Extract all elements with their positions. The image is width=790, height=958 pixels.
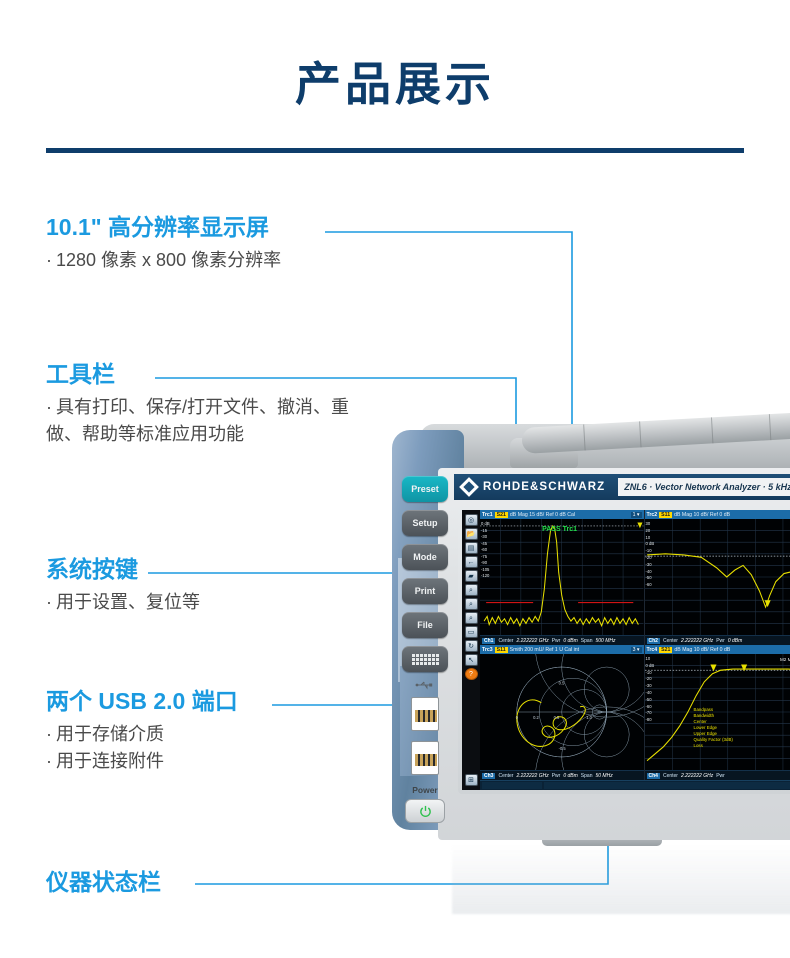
center-value: 2.222222 GHz <box>516 773 548 779</box>
svg-text:-0.5: -0.5 <box>559 746 567 751</box>
svg-text:0: 0 <box>516 715 519 720</box>
system-keys-column: Preset Setup Mode Print File <box>400 476 452 823</box>
usb-port-1[interactable] <box>411 697 439 731</box>
page-title: 产品展示 <box>0 58 790 111</box>
save-file-icon[interactable]: ▤ <box>465 542 478 554</box>
svg-text:1.0: 1.0 <box>586 715 592 720</box>
model-designation: ZNL6 · Vector Network Analyzer · 5 kHz -… <box>618 478 790 496</box>
smith-chart: 0.5 0 0.2 0.5 1.0 -0.5 <box>480 654 644 770</box>
rohde-schwarz-logo-icon <box>459 477 479 497</box>
trace-parameter: S21 <box>659 647 672 653</box>
preset-button[interactable]: Preset <box>402 476 448 502</box>
plot-trc3-smith[interactable]: 0.5 0 0.2 0.5 1.0 -0.5 <box>480 654 644 770</box>
bullet-dot: · <box>46 589 52 616</box>
center-value: 2.222222 GHz <box>681 773 713 779</box>
callout-system-keys-bullets: ·用于设置、复位等 <box>46 589 200 616</box>
keyboard-icon <box>412 654 439 665</box>
diagram-trc3[interactable]: Trc3 S11 Smith 200 mU/ Ref 1 U Cal int 3… <box>480 645 645 780</box>
screenshot-icon[interactable]: ◎ <box>465 514 478 526</box>
instrument-reflection <box>452 844 790 914</box>
callout-display-bullets: ·1280 像素 x 800 像素分辨率 <box>46 247 281 274</box>
callout-usb-heading: 两个 USB 2.0 端口 <box>46 689 238 714</box>
channel-id: Ch3 <box>482 773 495 779</box>
pointer-help-icon[interactable]: ↖ <box>465 654 478 666</box>
plot-trc2[interactable]: M1 2 3020100 dB-10-20-30-40-50-60 <box>645 519 790 635</box>
bullet-item: ·用于存储介质 <box>46 721 238 748</box>
trace-settings: Smith 200 mU/ Ref 1 U Cal int <box>510 647 579 653</box>
zoom-select-icon[interactable]: ⌕ <box>465 598 478 610</box>
bullet-item: ·用于连接附件 <box>46 748 238 775</box>
channel-bar-ch4[interactable]: Ch4 Center 2.222222 GHz Pwr <box>645 770 790 780</box>
trace-selector[interactable]: 1 ▾ <box>631 512 642 518</box>
usb-trident-icon <box>415 680 435 690</box>
setup-button[interactable]: Setup <box>402 510 448 536</box>
trc4-y-axis: 100 dB-10-20-30-40-50-60-70-80 <box>646 656 655 724</box>
instrument-photo: ROHDE&SCHWARZ ZNL6 · Vector Network Anal… <box>392 424 790 864</box>
plot-trc1[interactable]: PASS Trc1 0 dB-15-30-45-60-75-90-105-120 <box>480 519 644 635</box>
magnifier-icon[interactable]: ⌕ <box>465 612 478 624</box>
svg-text:0.5: 0.5 <box>554 715 560 720</box>
trace-settings: dB Mag 15 dB/ Ref 0 dB Cal <box>510 512 575 518</box>
instrument-status-bar[interactable] <box>480 780 790 790</box>
plot-trc2-graph <box>645 519 790 635</box>
trace-name: Trc4 <box>647 647 658 653</box>
file-button[interactable]: File <box>402 612 448 638</box>
trace-settings: dB Mag 10 dB/ Ref 0 dB <box>674 647 730 653</box>
bullet-text: 具有打印、保存/打开文件、撤消、重做、帮助等标准应用功能 <box>46 397 349 444</box>
undo-icon[interactable]: ← <box>465 556 478 568</box>
print-icon[interactable]: ▰ <box>465 570 478 582</box>
channel-id: Ch1 <box>482 638 495 644</box>
trc1-y-axis: 0 dB-15-30-45-60-75-90-105-120 <box>481 521 490 580</box>
refresh-icon[interactable]: ↻ <box>465 640 478 652</box>
channel-id: Ch4 <box>647 773 660 779</box>
bandpass-info-labels: Bandpass Bandwidth Center Lower Edge Upp… <box>694 707 733 749</box>
title-divider <box>46 148 744 153</box>
callout-status-bar: 仪器状态栏 <box>46 870 161 895</box>
svg-text:0.5: 0.5 <box>559 680 565 685</box>
instrument-display[interactable]: ◎ 📂 ▤ ← ▰ ⌕ ⌕ ⌕ ▭ ↻ ↖ ? ⊞ <box>462 510 790 790</box>
callout-usb-bullets: ·用于存储介质 ·用于连接附件 <box>46 721 238 775</box>
diagram-row-bottom: Trc3 S11 Smith 200 mU/ Ref 1 U Cal int 3… <box>480 645 790 780</box>
bullet-item: ·具有打印、保存/打开文件、撤消、重做、帮助等标准应用功能 <box>46 394 376 448</box>
pwr-label: Pwr <box>716 638 725 644</box>
pwr-label: Pwr <box>552 638 561 644</box>
pwr-value: 0 dBm <box>563 638 577 644</box>
center-label: Center <box>663 773 678 779</box>
pass-indicator: PASS Trc1 <box>542 526 577 533</box>
bullet-text: 1280 像素 x 800 像素分辨率 <box>56 250 281 270</box>
bullet-text: 用于设置、复位等 <box>56 592 200 612</box>
bullet-item: ·1280 像素 x 800 像素分辨率 <box>46 247 281 274</box>
channel-bar-ch3[interactable]: Ch3 Center 2.222222 GHz Pwr 0 dBm Span 5… <box>480 770 644 780</box>
span-label: Span <box>581 773 593 779</box>
pwr-label: Pwr <box>716 773 725 779</box>
window-icon[interactable]: ▭ <box>465 626 478 638</box>
channel-bar-ch1[interactable]: Ch1 Center 2.222222 GHz Pwr 0 dBm Span 5… <box>480 635 644 645</box>
span-label: Span <box>581 638 593 644</box>
bullet-text: 用于连接附件 <box>56 751 164 771</box>
trace-header-trc1[interactable]: Trc1 S21 dB Mag 15 dB/ Ref 0 dB Cal 1 ▾ <box>480 510 644 519</box>
callout-system-keys-heading: 系统按键 <box>46 557 200 582</box>
trace-selector[interactable]: 3 ▾ <box>631 647 642 653</box>
bullet-dot: · <box>46 247 52 274</box>
center-value: 2.222222 GHz <box>516 638 548 644</box>
power-button[interactable] <box>405 799 445 823</box>
diagram-row-top: Trc1 S21 dB Mag 15 dB/ Ref 0 dB Cal 1 ▾ <box>480 510 790 645</box>
product-showcase-page: 产品展示 10.1" 高分辨率显示屏 ·1280 像素 x 800 像素分辨率 … <box>0 0 790 958</box>
plot-trc4[interactable]: 100 dB-10-20-30-40-50-60-70-80 M2 M1 Ban… <box>645 654 790 770</box>
status-cell-right[interactable] <box>544 782 790 789</box>
trace-name: Trc1 <box>482 512 493 518</box>
bullet-dot: · <box>46 748 52 775</box>
loss-label: Loss <box>694 743 733 749</box>
callout-toolbar: 工具栏 ·具有打印、保存/打开文件、撤消、重做、帮助等标准应用功能 <box>46 362 376 448</box>
power-label: Power <box>400 785 450 795</box>
pwr-label: Pwr <box>552 773 561 779</box>
callout-toolbar-heading: 工具栏 <box>46 362 376 387</box>
mode-button[interactable]: Mode <box>402 544 448 570</box>
callout-display-heading: 10.1" 高分辨率显示屏 <box>46 215 281 240</box>
trace-header-trc3[interactable]: Trc3 S11 Smith 200 mU/ Ref 1 U Cal int 3… <box>480 645 644 654</box>
trace-name: Trc2 <box>647 512 658 518</box>
channel-id: Ch2 <box>647 638 660 644</box>
callout-status-bar-heading: 仪器状态栏 <box>46 870 161 895</box>
span-value: 500 MHz <box>595 638 615 644</box>
print-button[interactable]: Print <box>402 578 448 604</box>
diagram-trc4[interactable]: Trc4 S21 dB Mag 10 dB/ Ref 0 dB <box>645 645 790 780</box>
trace-name: Trc3 <box>482 647 493 653</box>
trace-parameter: S11 <box>495 647 508 653</box>
pwr-value: 0 dBm <box>563 773 577 779</box>
channel-bar-ch2[interactable]: Ch2 Center 2.222222 GHz Pwr 0 dBm <box>645 635 790 645</box>
callout-display: 10.1" 高分辨率显示屏 ·1280 像素 x 800 像素分辨率 <box>46 215 281 274</box>
bullet-dot: · <box>46 394 52 421</box>
callout-usb: 两个 USB 2.0 端口 ·用于存储介质 ·用于连接附件 <box>46 689 238 775</box>
trace-settings: dB Mag 10 dB/ Ref 0 dB <box>674 512 730 518</box>
trace-header-trc2[interactable]: Trc2 S11 dB Mag 10 dB/ Ref 0 dB <box>645 510 790 519</box>
trace-parameter: S11 <box>659 512 672 518</box>
power-icon <box>419 805 432 818</box>
center-label: Center <box>498 638 513 644</box>
application-toolbar[interactable]: ◎ 📂 ▤ ← ▰ ⌕ ⌕ ⌕ ▭ ↻ ↖ ? ⊞ <box>462 510 480 790</box>
diagram-trc2[interactable]: Trc2 S11 dB Mag 10 dB/ Ref 0 dB <box>645 510 790 645</box>
zoom-trace-icon[interactable]: ⌕ <box>465 584 478 596</box>
screen-content: Trc1 S21 dB Mag 15 dB/ Ref 0 dB Cal 1 ▾ <box>480 510 790 790</box>
keyboard-button[interactable] <box>402 646 448 672</box>
center-label: Center <box>663 638 678 644</box>
callout-system-keys: 系统按键 ·用于设置、复位等 <box>46 557 200 616</box>
status-cell-left[interactable] <box>482 782 542 789</box>
trc2-y-axis: 3020100 dB-10-20-30-40-50-60 <box>646 521 655 589</box>
brand-bar: ROHDE&SCHWARZ ZNL6 · Vector Network Anal… <box>454 474 790 500</box>
bullet-dot: · <box>46 721 52 748</box>
trace-parameter: S21 <box>495 512 508 518</box>
center-label: Center <box>498 773 513 779</box>
layout-icon[interactable]: ⊞ <box>465 774 478 786</box>
page-header: 产品展示 <box>0 58 790 111</box>
trace-header-trc4[interactable]: Trc4 S21 dB Mag 10 dB/ Ref 0 dB <box>645 645 790 654</box>
bullet-text: 用于存储介质 <box>56 724 164 744</box>
brand-name: ROHDE&SCHWARZ <box>483 481 605 493</box>
diagram-trc1[interactable]: Trc1 S21 dB Mag 15 dB/ Ref 0 dB Cal 1 ▾ <box>480 510 645 645</box>
svg-text:0.2: 0.2 <box>533 715 539 720</box>
bullet-item: ·用于设置、复位等 <box>46 589 200 616</box>
marker-label-trc4: M2 M1 <box>780 657 790 662</box>
callout-toolbar-bullets: ·具有打印、保存/打开文件、撤消、重做、帮助等标准应用功能 <box>46 394 376 448</box>
pwr-value: 0 dBm <box>728 638 742 644</box>
open-file-icon[interactable]: 📂 <box>465 528 478 540</box>
usb-symbol-icon <box>402 680 448 693</box>
usb-port-2[interactable] <box>411 741 439 775</box>
span-value: 50 MHz <box>595 773 612 779</box>
help-icon[interactable]: ? <box>465 668 478 680</box>
plot-trc1-graph <box>480 519 644 635</box>
center-value: 2.222222 GHz <box>681 638 713 644</box>
